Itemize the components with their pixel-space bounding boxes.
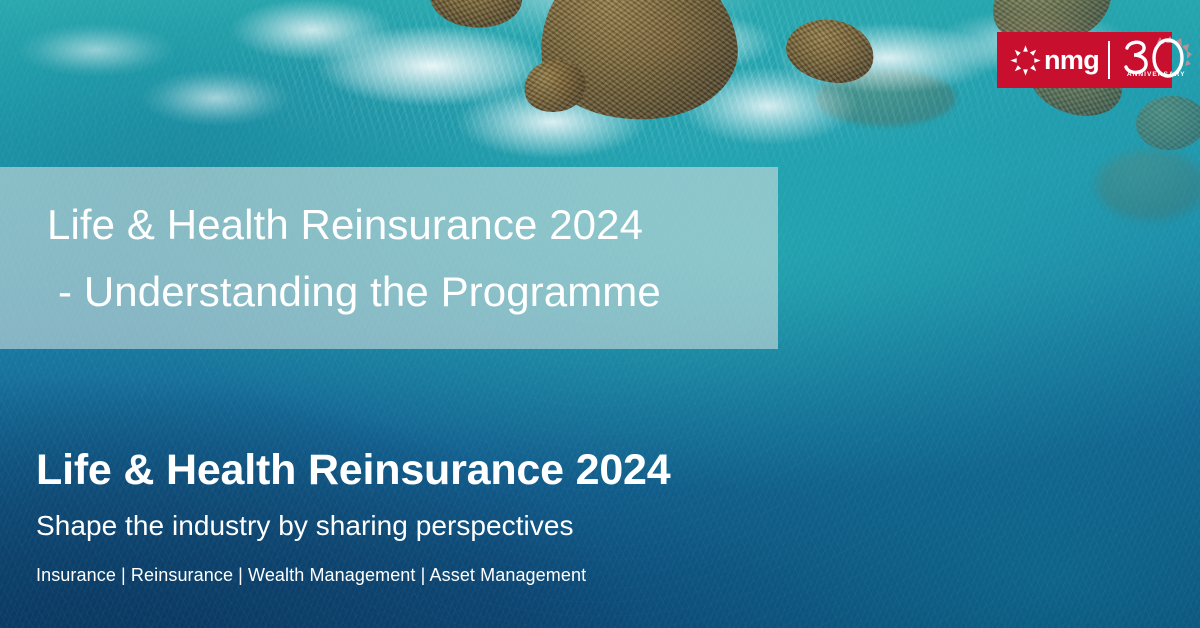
title-overlay-panel: Life & Health Reinsurance 2024 - Underst… [0, 167, 778, 349]
title-line-primary: Life & Health Reinsurance 2024 [0, 204, 778, 246]
svg-text:™: ™ [1170, 40, 1175, 45]
nmg-logo[interactable]: nmg ™ ANNIVERSARY [997, 32, 1172, 88]
title-line-secondary: - Understanding the Programme [0, 271, 778, 313]
thirty-anniversary-mark: ™ ANNIVERSARY [1118, 35, 1194, 85]
anniversary-label: ANNIVERSARY [1123, 72, 1189, 79]
nmg-wordmark: nmg [1044, 47, 1099, 74]
sun-burst-icon [1010, 45, 1041, 76]
logo-divider [1108, 41, 1110, 79]
bottom-headline: Life & Health Reinsurance 2024 [36, 449, 896, 492]
bottom-text-block: Life & Health Reinsurance 2024 Shape the… [36, 449, 896, 584]
bottom-tagline: Shape the industry by sharing perspectiv… [36, 512, 896, 540]
service-lines-list: Insurance | Reinsurance | Wealth Managem… [36, 566, 896, 584]
promo-banner: Life & Health Reinsurance 2024 - Underst… [0, 0, 1200, 628]
